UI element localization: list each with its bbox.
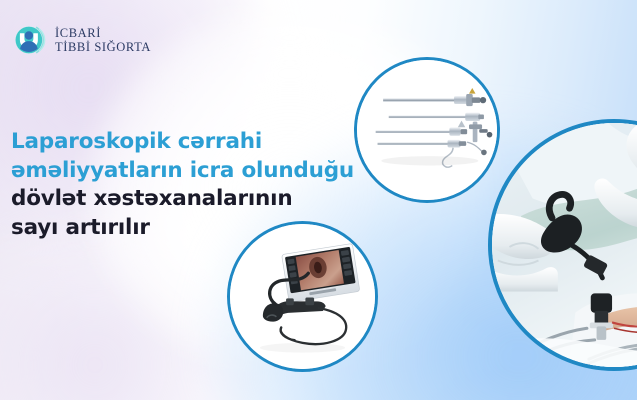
brand-name-line-1: İCBARİ [55, 26, 151, 40]
headline-line-1: Laparoskopik cərrahi [11, 128, 361, 157]
brand-name-line-2: TİBBİ SIĞORTA [55, 40, 151, 54]
instruments-illustration [357, 60, 497, 200]
brand-logo[interactable]: İCBARİ TİBBİ SIĞORTA [12, 22, 151, 58]
endoscope-illustration [230, 224, 375, 369]
video-endoscope-monitor-photo [227, 221, 378, 372]
brand-name: İCBARİ TİBBİ SIĞORTA [55, 26, 151, 54]
insurance-emblem-icon [12, 22, 48, 58]
laparoscopic-instruments-photo [354, 57, 500, 203]
headline-line-2: əməliyyatların icra olunduğu [11, 157, 361, 186]
news-banner: İCBARİ TİBBİ SIĞORTA Laparoskopik cərrah… [0, 0, 637, 400]
headline-line-3: dövlət xəstəxanalarının [11, 185, 361, 214]
